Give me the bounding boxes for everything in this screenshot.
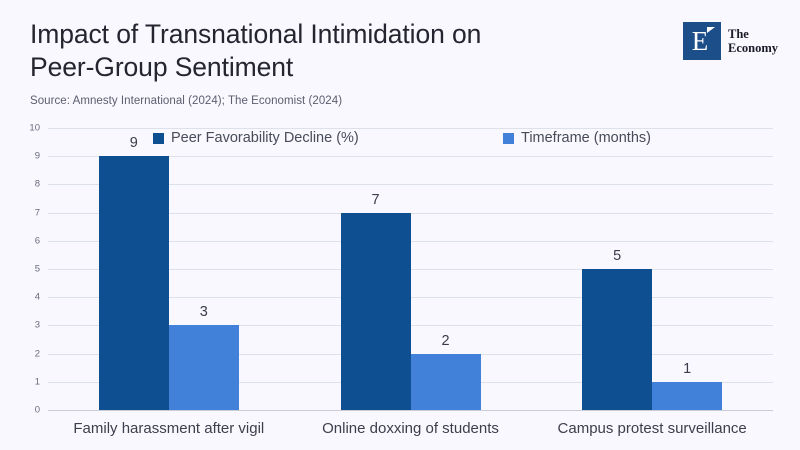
bar-value-label: 2 [441,333,449,349]
bar[interactable] [582,269,652,410]
y-axis-tick-label: 3 [35,320,40,331]
logo-letter: E [692,28,709,55]
source-note: Source: Amnesty International (2024); Th… [30,95,342,107]
y-axis-tick-label: 5 [35,264,40,275]
logo-flag-icon [707,27,715,33]
chart-header: Impact of Transnational Intimidation on … [0,0,800,118]
brand-logo: E The Economy [683,22,778,60]
y-axis-tick-label: 6 [35,235,40,246]
title-block: Impact of Transnational Intimidation on … [30,18,650,84]
x-axis-category-label: Campus protest surveillance [558,420,747,437]
legend-label: Peer Favorability Decline (%) [171,130,359,146]
legend-label: Timeframe (months) [521,130,651,146]
chart-page: { "header": { "title": "Impact of Transn… [0,0,800,450]
legend-swatch-icon [503,133,514,144]
plot-area: 012345678910937251 [48,128,773,410]
y-axis-tick-label: 4 [35,292,40,303]
y-axis-tick-label: 7 [35,207,40,218]
legend-item[interactable]: Timeframe (months) [503,128,651,148]
bar[interactable] [411,354,481,410]
y-axis-tick-label: 8 [35,179,40,190]
bar[interactable] [341,213,411,410]
legend-swatch-icon [153,133,164,144]
bar-value-label: 5 [613,248,621,264]
y-axis-tick-label: 0 [35,405,40,416]
bar[interactable] [652,382,722,410]
page-title: Impact of Transnational Intimidation on … [30,18,650,84]
bar-value-label: 3 [200,304,208,320]
bar[interactable] [169,325,239,410]
logo-wordmark: The Economy [728,27,778,55]
x-axis-labels: Family harassment after vigilOnline doxx… [48,420,773,446]
legend-item[interactable]: Peer Favorability Decline (%) [153,128,359,148]
bar-value-label: 1 [683,361,691,377]
x-axis-category-label: Online doxxing of students [322,420,499,437]
axis-baseline: 0 [48,410,773,411]
bar[interactable] [99,156,169,410]
y-axis-tick-label: 9 [35,151,40,162]
bar-value-label: 7 [371,192,379,208]
y-axis-tick-label: 10 [29,123,40,134]
logo-mark-icon: E [683,22,721,60]
chart-legend: Peer Favorability Decline (%)Timeframe (… [48,128,773,150]
y-axis-tick-label: 2 [35,348,40,359]
x-axis-category-label: Family harassment after vigil [73,420,264,437]
y-axis-tick-label: 1 [35,376,40,387]
